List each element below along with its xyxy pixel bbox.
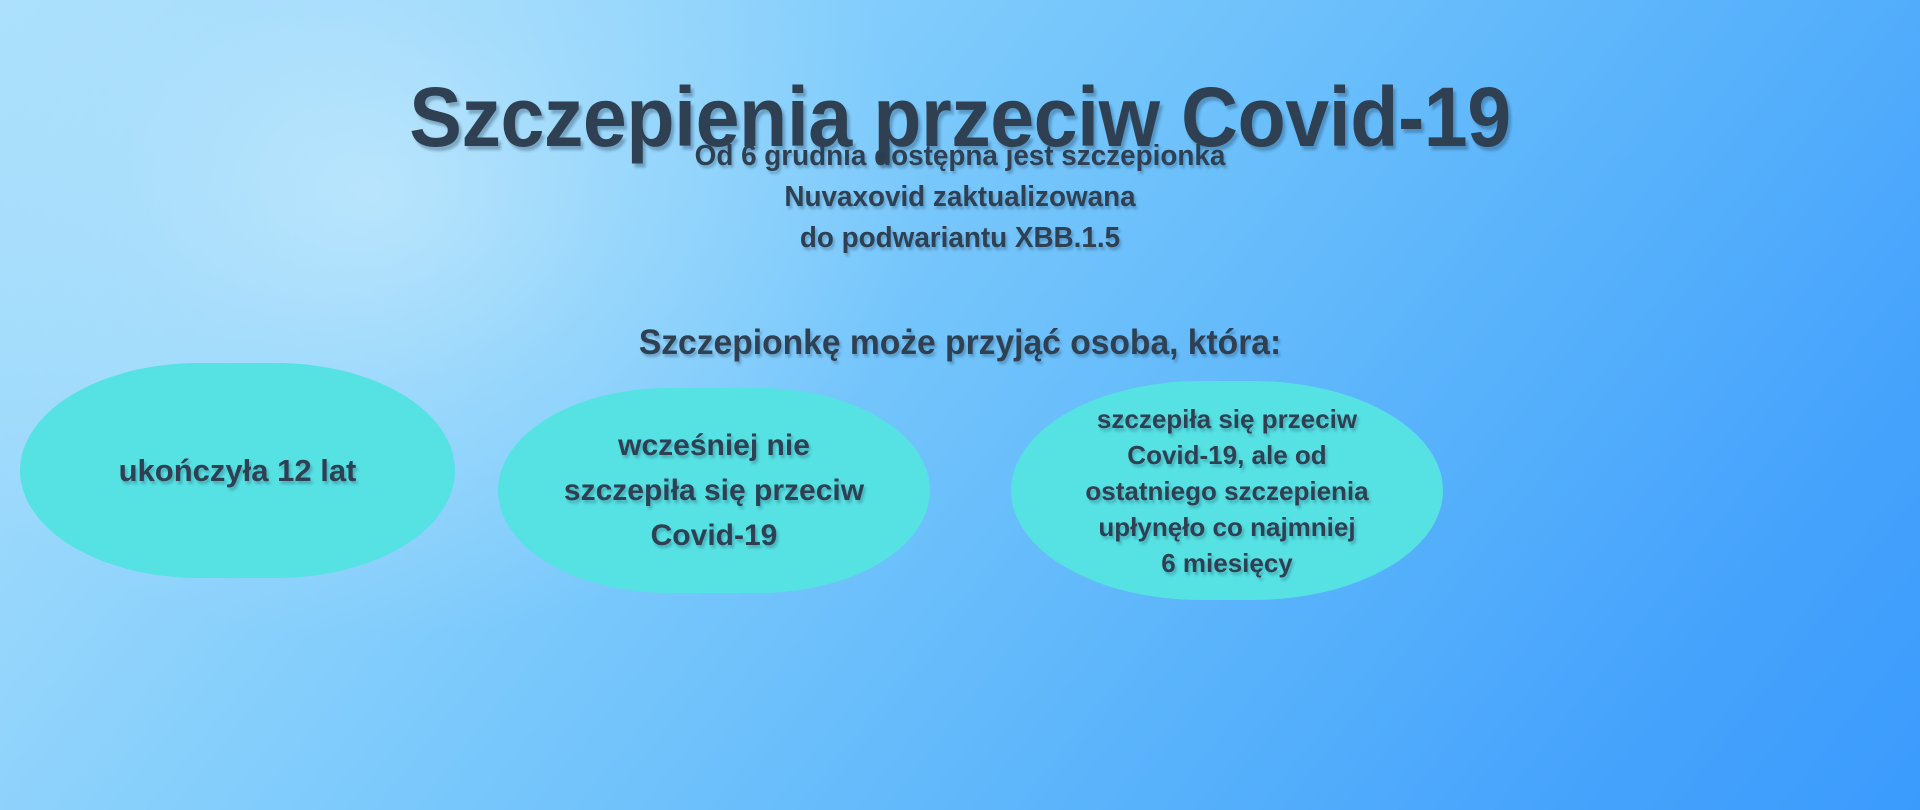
eligibility-card-list: ukończyła 12 lat wcześniej nie szczepiła… <box>0 0 1920 810</box>
eligibility-card-not-vaccinated: wcześniej nie szczepiła się przeciw Covi… <box>498 388 930 593</box>
card-six-months-line-4: upłynęło co najmniej <box>1011 509 1443 545</box>
card-six-months-line-1: szczepiła się przeciw <box>1011 401 1443 437</box>
card-six-months-line-2: Covid-19, ale od <box>1011 437 1443 473</box>
card-six-months-line-3: ostatniego szczepienia <box>1011 473 1443 509</box>
poster-content: Szczepienia przeciw Covid-19 Od 6 grudni… <box>0 0 1920 810</box>
card-six-months-text: szczepiła się przeciw Covid-19, ale od o… <box>1011 401 1443 581</box>
card-not-vaccinated-text: wcześniej nie szczepiła się przeciw Covi… <box>498 423 930 558</box>
eligibility-card-six-months: szczepiła się przeciw Covid-19, ale od o… <box>1011 381 1443 600</box>
card-age-text: ukończyła 12 lat <box>20 449 455 493</box>
card-not-vaccinated-line-1: wcześniej nie <box>498 423 930 468</box>
card-not-vaccinated-line-2: szczepiła się przeciw <box>498 468 930 513</box>
card-not-vaccinated-line-3: Covid-19 <box>498 513 930 558</box>
eligibility-card-age: ukończyła 12 lat <box>20 363 455 578</box>
card-six-months-line-5: 6 miesięcy <box>1011 545 1443 581</box>
card-age-line-1: ukończyła 12 lat <box>20 449 455 493</box>
poster-canvas: Szczepienia przeciw Covid-19 Od 6 grudni… <box>0 0 1920 810</box>
